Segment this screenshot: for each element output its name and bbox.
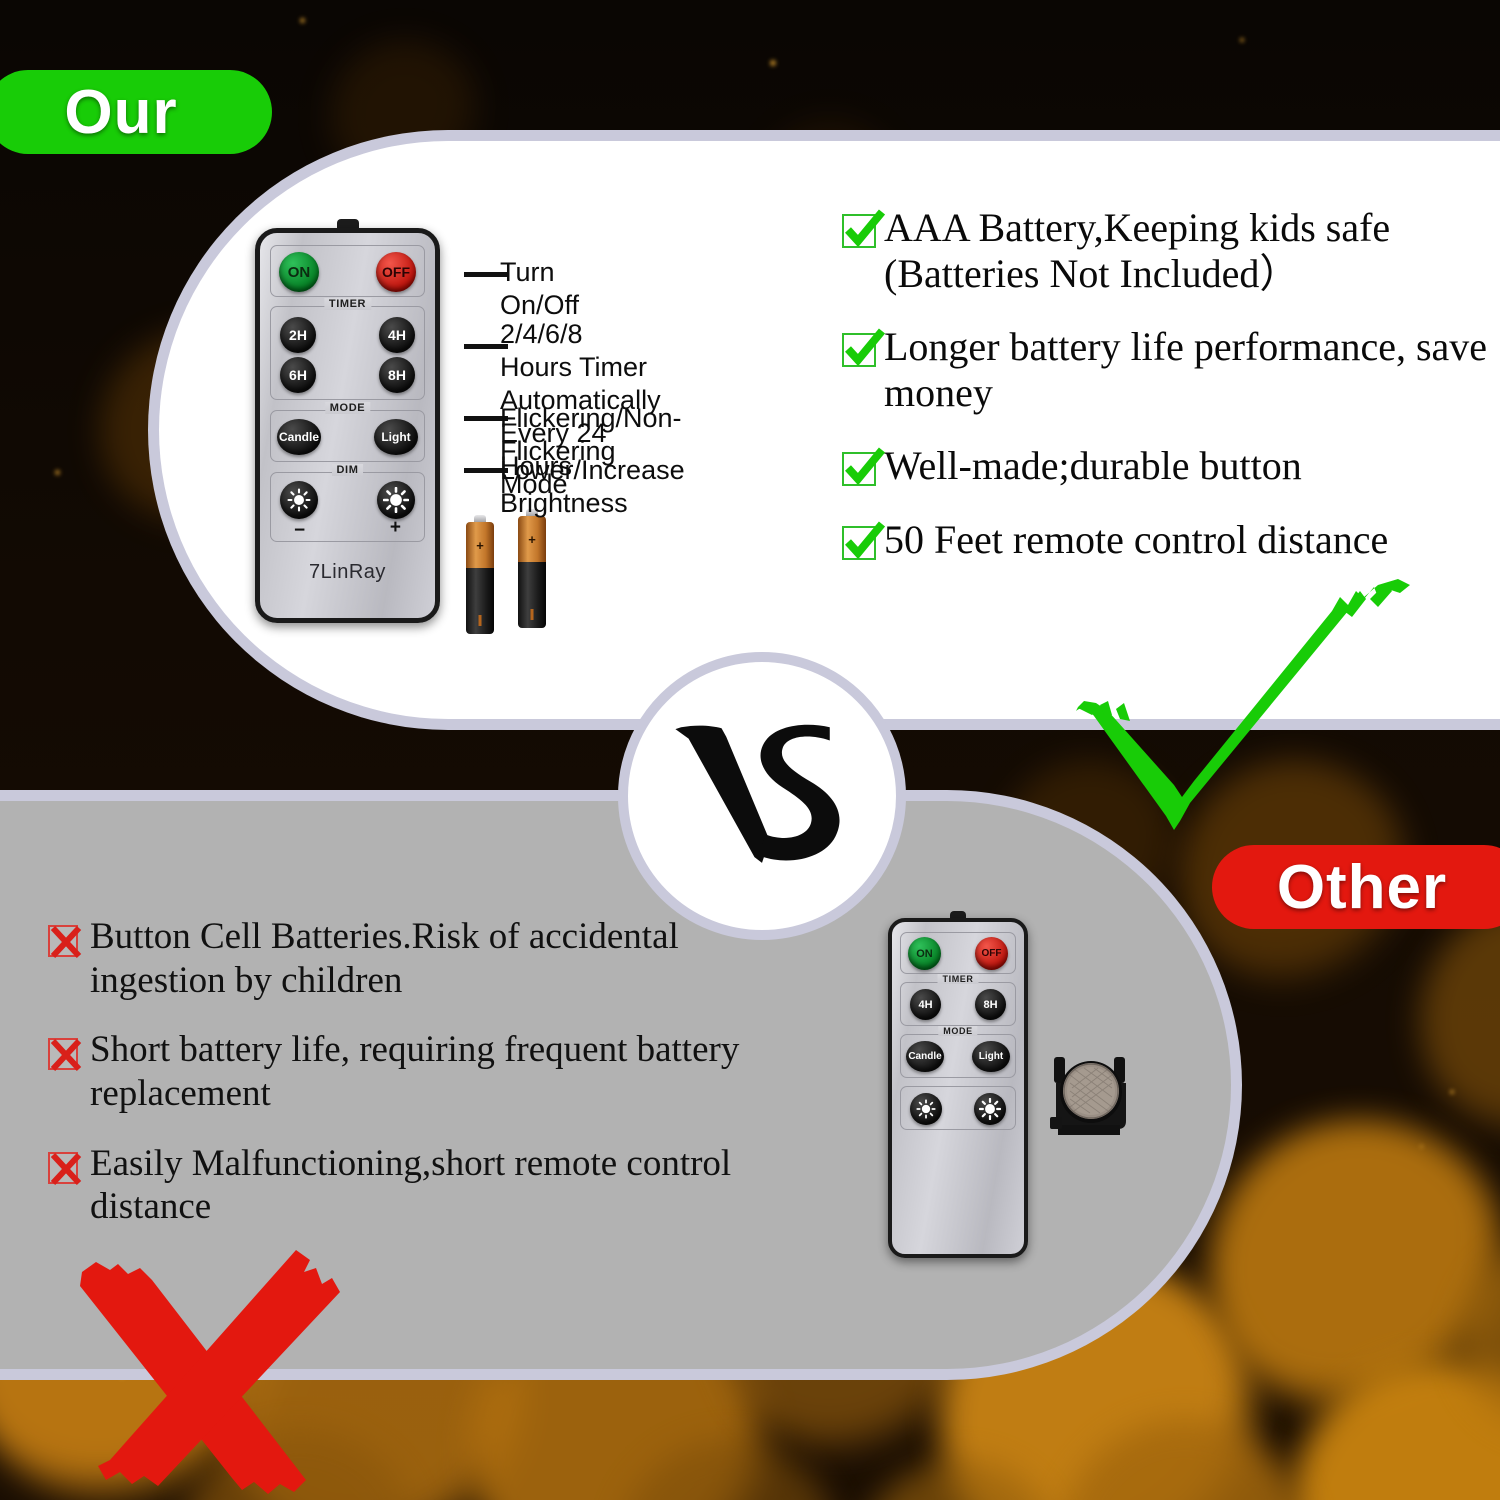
remote-button-dim-up[interactable] — [974, 1093, 1006, 1125]
remote-group-timer: TIMER 2H 4H 6H 8H — [270, 306, 425, 400]
check-icon — [842, 526, 876, 560]
cross-icon — [48, 1038, 78, 1070]
check-icon — [842, 452, 876, 486]
green-check-mark — [1048, 575, 1478, 845]
remote-group-mode: MODE Candle Light — [900, 1034, 1016, 1078]
cross-brush-icon — [58, 1230, 368, 1500]
other-remote-control: ON OFF TIMER 4H 8H MODE Candle Light — [888, 918, 1028, 1258]
con-label: Easily Malfunctioning,short remote contr… — [90, 1142, 808, 1229]
bokeh-spark — [55, 470, 60, 475]
remote-button-off[interactable]: OFF — [975, 937, 1008, 970]
remote-group-power: ON OFF — [270, 245, 425, 297]
con-label: Button Cell Batteries.Risk of accidental… — [90, 915, 808, 1002]
remote-button-6h[interactable]: 6H — [280, 357, 316, 393]
bokeh-spark — [300, 18, 305, 23]
battery-bottom — [466, 568, 494, 634]
remote-button-2h[interactable]: 2H — [280, 317, 316, 353]
remote-group-timer: TIMER 4H 8H — [900, 982, 1016, 1026]
battery-minus-icon — [479, 615, 482, 626]
remote-body: ON OFF TIMER 2H 4H 6H 8H MODE Candle Lig… — [255, 228, 440, 623]
badge-our: Our — [0, 70, 272, 154]
feature-item: AAA Battery,Keeping kids safe (Batteries… — [842, 205, 1500, 296]
cross-icon — [48, 925, 78, 957]
remote-button-4h[interactable]: 4H — [910, 989, 941, 1020]
bokeh-spark — [770, 60, 776, 66]
remote-button-8h[interactable]: 8H — [975, 989, 1006, 1020]
remote-group-mode-label: MODE — [938, 1026, 977, 1036]
our-remote-control: ON OFF TIMER 2H 4H 6H 8H MODE Candle Lig… — [255, 228, 440, 623]
remote-body: ON OFF TIMER 4H 8H MODE Candle Light — [888, 918, 1028, 1258]
remote-button-dim-down[interactable] — [280, 481, 318, 519]
battery-plus-icon: + — [518, 532, 546, 547]
bokeh-spark — [1240, 38, 1244, 42]
sun-icon — [979, 1098, 1001, 1120]
remote-group-timer-label: TIMER — [324, 298, 371, 310]
con-item: Short battery life, requiring frequent b… — [48, 1028, 808, 1115]
remote-button-on[interactable]: ON — [279, 252, 319, 292]
battery-plus-icon: + — [466, 538, 494, 553]
sun-icon — [383, 487, 409, 513]
aaa-battery: + — [466, 522, 494, 634]
remote-button-4h[interactable]: 4H — [379, 317, 415, 353]
cross-icon — [48, 1152, 78, 1184]
remote-button-dim-down[interactable] — [910, 1093, 942, 1125]
bokeh-spark — [1450, 1090, 1454, 1094]
feature-label: AAA Battery,Keeping kids safe (Batteries… — [884, 205, 1500, 296]
feature-item: Longer battery life performance, save mo… — [842, 324, 1500, 415]
aaa-battery: + — [518, 516, 546, 628]
con-item: Easily Malfunctioning,short remote contr… — [48, 1142, 808, 1229]
check-icon — [842, 333, 876, 367]
infographic-canvas: Our Other ON OFF TIMER 2H 4H 6H 8H MODE … — [0, 0, 1500, 1500]
remote-button-candle[interactable]: Candle — [277, 419, 321, 455]
remote-group-mode-label: MODE — [325, 402, 370, 414]
remote-brand-label: 7LinRay — [260, 561, 435, 584]
battery-minus-icon — [531, 609, 534, 620]
feature-label: 50 Feet remote control distance — [884, 517, 1388, 563]
coin-cell-battery-holder — [1050, 1043, 1142, 1153]
feature-label: Well-made;durable button — [884, 443, 1302, 489]
feature-item: 50 Feet remote control distance — [842, 517, 1500, 563]
remote-button-8h[interactable]: 8H — [379, 357, 415, 393]
battery-bottom — [518, 562, 546, 628]
bokeh-spark — [1420, 1145, 1423, 1148]
our-feature-list: AAA Battery,Keeping kids safe (Batteries… — [842, 205, 1500, 591]
callout-text-dim: Lower/Increase Brightness — [500, 454, 685, 520]
remote-group-timer-label: TIMER — [938, 974, 979, 984]
remote-group-dim: DIM — [270, 472, 425, 542]
check-brush-icon — [1048, 575, 1478, 845]
badge-other: Other — [1212, 845, 1500, 929]
other-cons-list: Button Cell Batteries.Risk of accidental… — [48, 915, 808, 1255]
con-item: Button Cell Batteries.Risk of accidental… — [48, 915, 808, 1002]
remote-button-off[interactable]: OFF — [376, 252, 416, 292]
remote-group-dim — [900, 1086, 1016, 1130]
vs-badge — [618, 652, 906, 940]
remote-group-power: ON OFF — [900, 932, 1016, 974]
remote-dim-plus-label: + — [390, 517, 401, 539]
sun-icon — [916, 1099, 936, 1119]
con-label: Short battery life, requiring frequent b… — [90, 1028, 808, 1115]
remote-button-light[interactable]: Light — [972, 1041, 1010, 1072]
feature-item: Well-made;durable button — [842, 443, 1500, 489]
button-cell-battery-icon — [1050, 1043, 1142, 1153]
callout-text-power: Turn On/Off — [500, 256, 579, 322]
battery-top: + — [466, 522, 494, 568]
remote-group-mode: MODE Candle Light — [270, 410, 425, 462]
remote-button-dim-up[interactable] — [377, 481, 415, 519]
check-icon — [842, 214, 876, 248]
remote-group-dim-label: DIM — [332, 464, 364, 476]
sun-icon — [287, 488, 311, 512]
remote-button-light[interactable]: Light — [374, 419, 418, 455]
battery-top: + — [518, 516, 546, 562]
vs-logo-icon — [667, 716, 857, 876]
red-cross-mark — [58, 1230, 368, 1500]
remote-button-candle[interactable]: Candle — [906, 1041, 944, 1072]
remote-dim-minus-label: − — [294, 520, 305, 542]
feature-label: Longer battery life performance, save mo… — [884, 324, 1500, 415]
remote-button-on[interactable]: ON — [908, 937, 941, 970]
